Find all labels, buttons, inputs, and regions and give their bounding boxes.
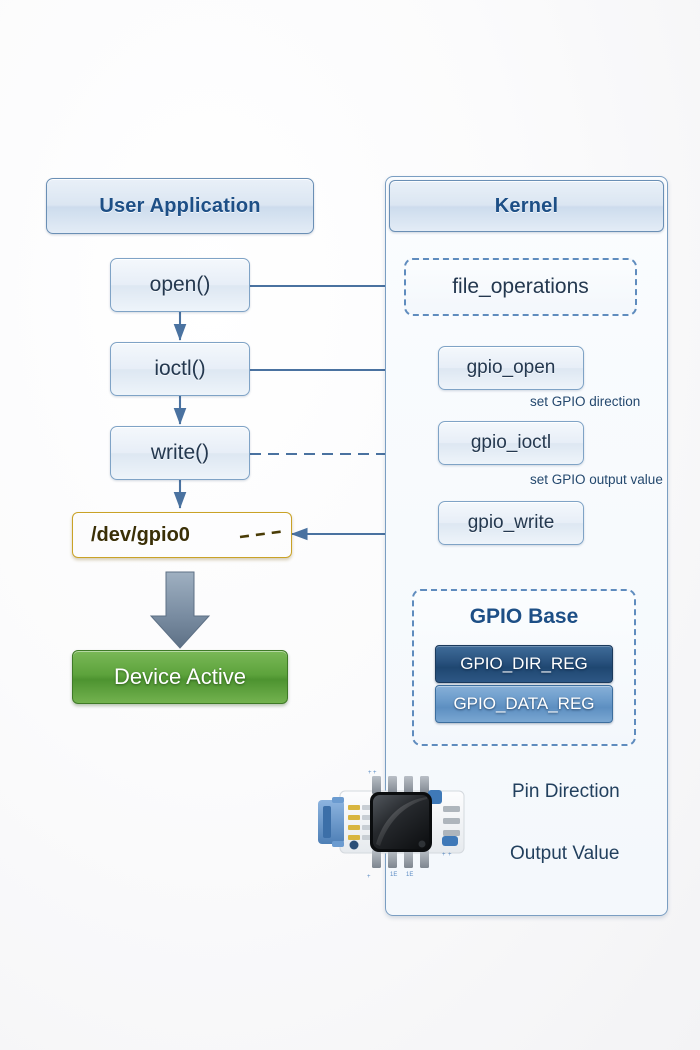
user-step-write[interactable]: write() [110,426,250,480]
register-gpio-dir-reg[interactable]: GPIO_DIR_REG [435,645,613,683]
user-step-ioctl[interactable]: ioctl() [110,342,250,396]
kernel-fn-gpio-ioctl[interactable]: gpio_ioctl [438,421,584,465]
svg-text:+: + [373,770,377,776]
kernel-title: Kernel [389,180,664,232]
svg-text:+: + [442,852,446,858]
register-gpio-data-reg[interactable]: GPIO_DATA_REG [435,685,613,723]
svg-text:1E: 1E [406,872,413,878]
device-node-box[interactable]: /dev/gpio0 [72,512,292,558]
file-operations-box[interactable]: file_operations [404,258,637,316]
svg-text:+: + [448,852,452,858]
gpio-base-title: GPIO Base [414,605,634,629]
svg-text:+: + [367,874,371,880]
label-output-value: Output Value [510,843,620,865]
annotation-set-gpio-direction: set GPIO direction [530,394,640,409]
annotation-set-gpio-output-value: set GPIO output value [530,472,663,487]
ic-chip-icon: + + + 1E 1E + + [310,764,490,880]
user-step-open[interactable]: open() [110,258,250,312]
file-operations-label: file_operations [452,275,589,299]
svg-text:1E: 1E [390,872,397,878]
kernel-fn-gpio-open[interactable]: gpio_open [438,346,584,390]
gpio-base-container: GPIO Base GPIO_DIR_REG GPIO_DATA_REG [412,589,636,746]
device-active-status: Device Active [72,650,288,704]
kernel-fn-gpio-write[interactable]: gpio_write [438,501,584,545]
svg-text:+: + [368,770,372,776]
gpio-driver-architecture-diagram: User Application open() ioctl() write() … [0,0,700,1050]
user-application-title: User Application [46,178,314,234]
label-pin-direction: Pin Direction [512,781,620,803]
